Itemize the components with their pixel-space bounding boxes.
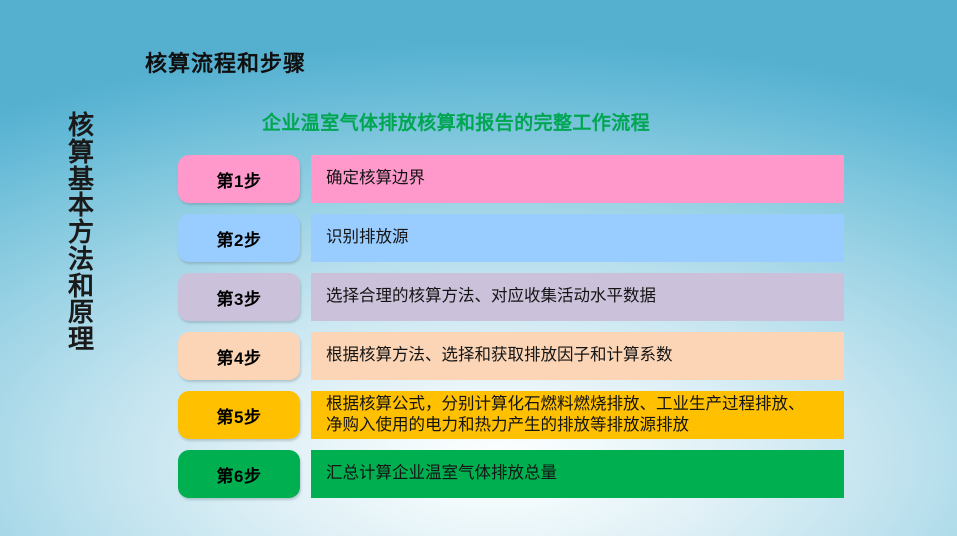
slide-canvas: 核算基本方法和原理 核算流程和步骤 企业温室气体排放核算和报告的完整工作流程 第… <box>0 0 957 536</box>
process-step-list: 第1步确定核算边界第2步识别排放源第3步选择合理的核算方法、对应收集活动水平数据… <box>178 155 844 509</box>
step-description-bar[interactable]: 识别排放源 <box>311 214 844 262</box>
page-title: 核算流程和步骤 <box>145 46 306 78</box>
step-number-badge[interactable]: 第6步 <box>178 450 300 498</box>
step-description-line: 根据核算公式，分别计算化石燃料燃烧排放、工业生产过程排放、 <box>326 394 836 415</box>
step-description-bar[interactable]: 选择合理的核算方法、对应收集活动水平数据 <box>311 273 844 321</box>
process-step-row: 第2步识别排放源 <box>178 214 844 262</box>
step-description-line: 识别排放源 <box>326 227 836 248</box>
step-description-bar[interactable]: 根据核算方法、选择和获取排放因子和计算系数 <box>311 332 844 380</box>
side-label-char: 核 <box>58 112 104 139</box>
process-step-row: 第4步根据核算方法、选择和获取排放因子和计算系数 <box>178 332 844 380</box>
step-number-badge[interactable]: 第1步 <box>178 155 300 203</box>
step-description-line: 根据核算方法、选择和获取排放因子和计算系数 <box>326 345 836 366</box>
process-step-row: 第3步选择合理的核算方法、对应收集活动水平数据 <box>178 273 844 321</box>
step-description-line: 净购入使用的电力和热力产生的排放等排放源排放 <box>326 415 836 436</box>
process-step-row: 第5步根据核算公式，分别计算化石燃料燃烧排放、工业生产过程排放、净购入使用的电力… <box>178 391 844 439</box>
step-description-line: 确定核算边界 <box>326 168 836 189</box>
side-label-char: 原 <box>58 299 104 326</box>
side-label-char: 本 <box>58 192 104 219</box>
step-number-badge[interactable]: 第5步 <box>178 391 300 439</box>
side-label-char: 方 <box>58 219 104 246</box>
side-vertical-label: 核算基本方法和原理 <box>58 112 104 353</box>
process-step-row: 第6步汇总计算企业温室气体排放总量 <box>178 450 844 498</box>
side-label-char: 理 <box>58 326 104 353</box>
side-label-char: 和 <box>58 273 104 300</box>
step-description-bar[interactable]: 根据核算公式，分别计算化石燃料燃烧排放、工业生产过程排放、净购入使用的电力和热力… <box>311 391 844 439</box>
side-label-char: 法 <box>58 246 104 273</box>
side-label-char: 算 <box>58 139 104 166</box>
side-label-char: 基 <box>58 166 104 193</box>
step-number-badge[interactable]: 第4步 <box>178 332 300 380</box>
slide-subtitle: 企业温室气体排放核算和报告的完整工作流程 <box>262 108 650 135</box>
step-description-bar[interactable]: 汇总计算企业温室气体排放总量 <box>311 450 844 498</box>
step-description-bar[interactable]: 确定核算边界 <box>311 155 844 203</box>
step-number-badge[interactable]: 第2步 <box>178 214 300 262</box>
step-number-badge[interactable]: 第3步 <box>178 273 300 321</box>
step-description-line: 汇总计算企业温室气体排放总量 <box>326 463 836 484</box>
step-description-line: 选择合理的核算方法、对应收集活动水平数据 <box>326 286 836 307</box>
process-step-row: 第1步确定核算边界 <box>178 155 844 203</box>
